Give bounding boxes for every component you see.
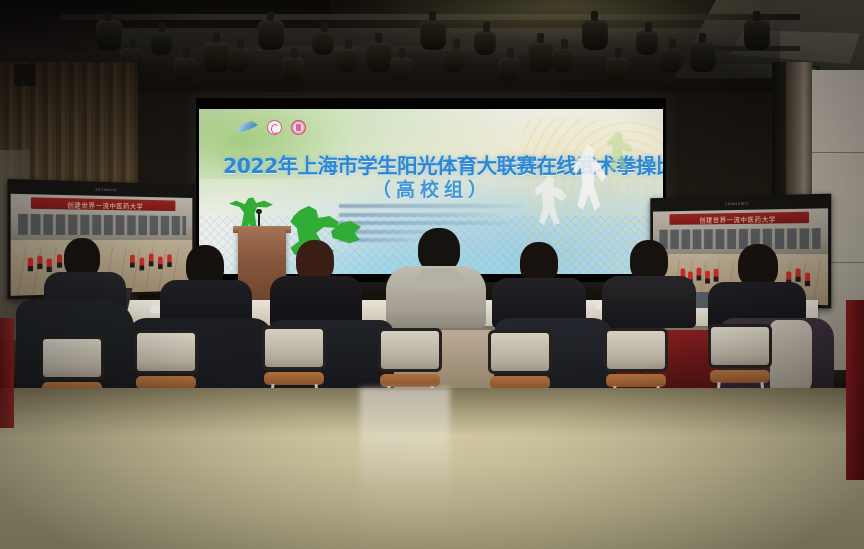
screen-logo-row xyxy=(236,120,306,135)
wall-speaker xyxy=(14,64,36,86)
stage-light xyxy=(96,20,122,50)
screenshot-root: 2022年上海市学生阳光体育大联赛在线武术拳操比赛 （高校组） JOYWAYS … xyxy=(0,0,864,549)
chair-seat xyxy=(380,374,440,387)
chair-back xyxy=(378,328,442,372)
stage-light xyxy=(336,48,358,72)
chair-seat xyxy=(606,374,666,387)
gym-banner: 创建世界一流中医药大学 xyxy=(669,212,809,225)
stage-light xyxy=(474,31,496,55)
chair-back xyxy=(708,324,772,368)
right-curtain xyxy=(846,300,864,480)
stage-light xyxy=(204,42,230,72)
chair-back xyxy=(604,328,668,372)
stage-light xyxy=(552,48,574,72)
athlete xyxy=(705,271,710,284)
stage-light xyxy=(174,57,196,81)
athlete xyxy=(149,254,154,267)
stage-light xyxy=(312,31,334,55)
athlete xyxy=(697,268,702,281)
stage-light xyxy=(150,31,172,55)
athlete xyxy=(130,255,135,268)
athlete xyxy=(47,259,52,272)
athlete xyxy=(805,273,810,286)
gym-banner-text: 创建世界一流中医药大学 xyxy=(67,199,143,210)
chair-back xyxy=(262,326,326,370)
athlete xyxy=(28,258,33,272)
left-curtain xyxy=(0,318,14,428)
athlete xyxy=(167,254,172,267)
gym-banner: 创建世界一流中医药大学 xyxy=(30,197,175,211)
stage-light xyxy=(366,42,392,72)
stage-light xyxy=(606,57,628,81)
athlete xyxy=(139,258,144,271)
bird-wave-logo-icon xyxy=(236,121,258,134)
hood xyxy=(414,268,464,290)
stage-light xyxy=(498,57,520,81)
gym-banner-text: 创建世界一流中医药大学 xyxy=(699,213,776,224)
pink-seal-logo-icon xyxy=(291,120,306,135)
stage-light xyxy=(660,48,682,72)
athlete xyxy=(37,256,42,270)
floor-reflection xyxy=(360,388,450,549)
pink-ring-logo-icon xyxy=(267,120,282,135)
stage-light xyxy=(444,48,466,72)
athlete xyxy=(158,256,163,269)
chair-back xyxy=(134,330,198,374)
monitor-right-brand: TRANSMIT xyxy=(725,200,749,206)
chair-seat xyxy=(710,370,770,383)
screen-subtitle: （高校组） xyxy=(223,175,641,202)
athlete xyxy=(795,268,800,281)
stage-light xyxy=(282,57,304,81)
stage-light xyxy=(744,20,770,50)
monitor-left-brand: JOYWAYS xyxy=(95,186,117,192)
chair-back xyxy=(488,330,552,374)
chair-seat xyxy=(264,372,324,385)
chair-back xyxy=(40,336,104,380)
athlete xyxy=(57,254,62,267)
stage-light xyxy=(258,20,284,50)
right-panel-seam xyxy=(812,152,864,153)
stage-light xyxy=(690,42,716,72)
stage-light xyxy=(582,20,608,50)
draped-scarf xyxy=(770,320,812,396)
gym-windows xyxy=(19,214,186,235)
stage-light xyxy=(636,31,658,55)
stage-light xyxy=(420,20,446,50)
stage-light xyxy=(528,42,554,72)
stage-light xyxy=(228,48,250,72)
athlete xyxy=(714,269,719,282)
gym-windows xyxy=(659,228,820,249)
stage-light xyxy=(390,57,412,81)
